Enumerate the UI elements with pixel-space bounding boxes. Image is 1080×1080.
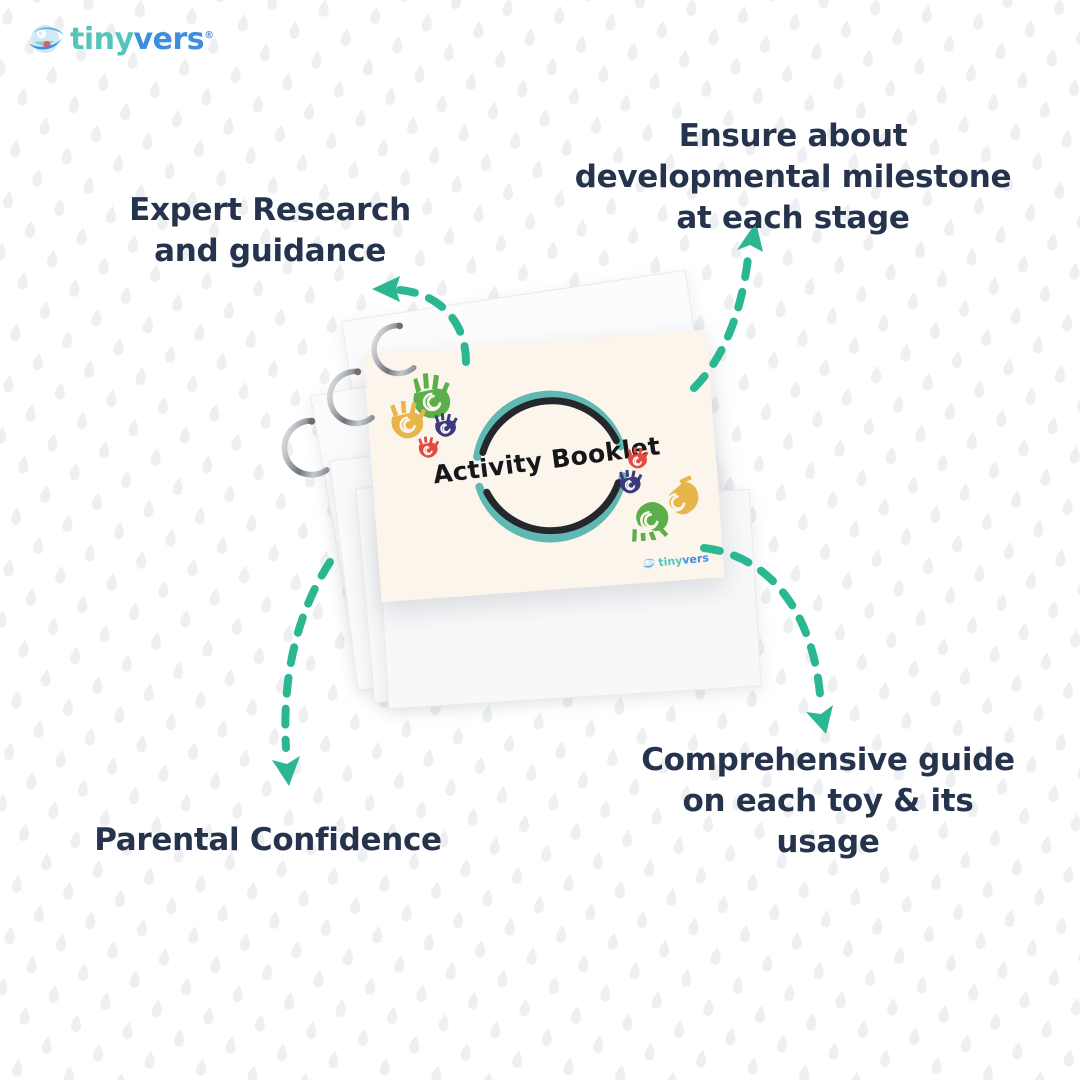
binder-ring bbox=[368, 322, 416, 379]
callout-expert-research: Expert Research and guidance bbox=[128, 190, 412, 272]
callout-comprehensive-guide: Comprehensive guide on each toy & its us… bbox=[628, 740, 1028, 863]
cover-brand-wordmark: tinyvers bbox=[658, 552, 709, 568]
handprint-red-icon bbox=[627, 446, 649, 469]
handprint-yellow-icon bbox=[666, 475, 699, 516]
poster-canvas: tinyvers® Expert Research and guidance E… bbox=[0, 0, 1080, 1080]
callout-parental-confidence: Parental Confidence bbox=[72, 820, 464, 861]
binder-ring bbox=[323, 368, 375, 430]
brand-logo[interactable]: tinyvers® bbox=[26, 16, 226, 64]
handprint-green-icon bbox=[629, 501, 670, 543]
brand-word-part2: vers bbox=[134, 22, 205, 57]
cover-brand-part1: tiny bbox=[658, 554, 683, 569]
handprint-cluster-right bbox=[617, 442, 710, 542]
cover-brand-logo: tinyvers bbox=[641, 550, 710, 572]
binder-ring bbox=[278, 417, 330, 481]
brand-wordmark: tinyvers® bbox=[70, 25, 214, 55]
tinyvers-globe-baby-icon bbox=[26, 20, 66, 60]
brand-word-part1: tiny bbox=[70, 22, 134, 57]
binder-rings bbox=[236, 286, 486, 586]
handprint-purple-icon bbox=[619, 469, 644, 494]
registered-mark: ® bbox=[204, 30, 214, 41]
cover-brand-part2: vers bbox=[682, 551, 710, 567]
activity-booklet-stack[interactable]: Activity Booklet bbox=[236, 286, 756, 706]
callout-developmental-milestone: Ensure about developmental milestone at … bbox=[552, 116, 1034, 239]
tinyvers-globe-baby-icon bbox=[641, 556, 657, 572]
